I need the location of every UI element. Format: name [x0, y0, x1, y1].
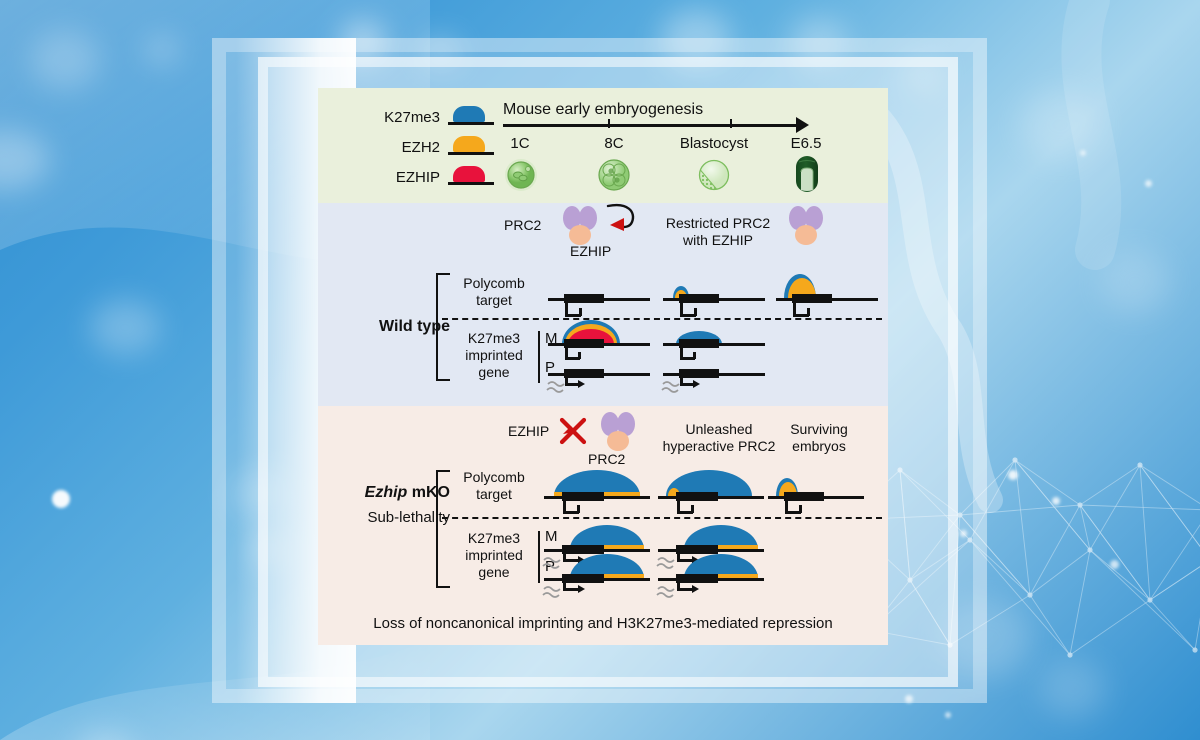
wt-row2-label-line2: imprinted: [452, 348, 536, 364]
knockout-rows-bracket: [436, 470, 450, 588]
wt-row1-label-line1: Polycomb: [452, 276, 536, 292]
prc2-label-ko: PRC2: [588, 452, 625, 468]
one-cell-embryo-icon: [504, 158, 538, 192]
wild-type-rows-bracket: [436, 273, 450, 381]
ezhip-label-wt: EZHIP: [570, 244, 611, 260]
surviving-embryos-line2: embryos: [764, 439, 874, 455]
ko-rna-squiggle-1c-m: [542, 556, 566, 572]
legend-swatch-ezh2: [448, 136, 494, 156]
ko-allele-m: M: [545, 529, 558, 546]
timeline-arrowhead: [796, 117, 809, 133]
ko-rna-squiggle-1c-p: [542, 585, 566, 601]
ezhip-inhibition-arrow-icon: [602, 200, 642, 238]
surviving-embryos-line1: Surviving: [764, 422, 874, 438]
egg-cylinder-icon: [790, 154, 824, 194]
ko-row1-label-line1: Polycomb: [452, 470, 536, 486]
timeline-tick-2: [730, 119, 732, 128]
prc2-label-wt: PRC2: [504, 218, 541, 234]
stage-label-8c: 8C: [584, 136, 644, 153]
ko-row2-label-line3: gene: [452, 565, 536, 581]
legend-label-k27me3: K27me3: [356, 110, 440, 127]
ezhip-knockout-cross-icon: [558, 414, 592, 448]
timeline-tick-1: [608, 119, 610, 128]
restricted-prc2-line2: with EZHIP: [648, 233, 788, 249]
timeline-axis: [503, 124, 800, 127]
restricted-prc2-line1: Restricted PRC2: [648, 216, 788, 232]
ko-row2-label-line2: imprinted: [452, 548, 536, 564]
knockout-phenotype-label: Sub-lethality: [328, 510, 450, 527]
ko-rna-squiggle-8c-p: [656, 585, 680, 601]
knockout-row-separator: [442, 517, 882, 519]
legend-label-ezh2: EZH2: [356, 140, 440, 157]
ko-row2-label-line1: K27me3: [452, 531, 536, 547]
prc2-complex-icon-wt: [558, 204, 604, 246]
wt-rna-squiggle-1c: [546, 380, 570, 396]
legend-label-ezhip: EZHIP: [356, 170, 440, 187]
prc2-complex-icon-e65: [784, 204, 830, 246]
stage-label-e65: E6.5: [776, 136, 836, 153]
ezhip-label-ko: EZHIP: [508, 424, 549, 440]
timeline-title: Mouse early embryogenesis: [503, 101, 803, 119]
stage-label-blastocyst: Blastocyst: [659, 136, 769, 153]
wt-row2-label-line1: K27me3: [452, 331, 536, 347]
prc2-complex-icon-ko: [596, 410, 642, 452]
eight-cell-embryo-icon: [597, 158, 631, 192]
legend-swatch-k27me3: [448, 106, 494, 126]
wt-row2-label-line3: gene: [452, 365, 536, 381]
knockout-gene-name: Ezhip: [365, 484, 408, 501]
wt-row1-label-line2: target: [452, 293, 536, 309]
wt-rna-squiggle-8c: [661, 380, 685, 396]
wt-allele-bar: [538, 331, 540, 383]
knockout-genotype-label: Ezhip mKO: [328, 484, 450, 502]
blastocyst-icon: [697, 158, 731, 192]
knockout-caption: Loss of noncanonical imprinting and H3K2…: [353, 616, 853, 633]
ko-row1-label-line2: target: [452, 487, 536, 503]
graphical-abstract-canvas: K27me3 EZH2 EZHIP Mouse early embryogene…: [0, 0, 1200, 740]
stage-label-1c: 1C: [490, 136, 550, 153]
ko-allele-bar: [538, 531, 540, 583]
wild-type-row-separator: [442, 318, 882, 320]
ko-rna-squiggle-8c-m: [656, 556, 680, 572]
figure-panel: K27me3 EZH2 EZHIP Mouse early embryogene…: [318, 88, 888, 645]
wild-type-genotype-label: Wild type: [340, 318, 450, 336]
legend-swatch-ezhip: [448, 166, 494, 186]
